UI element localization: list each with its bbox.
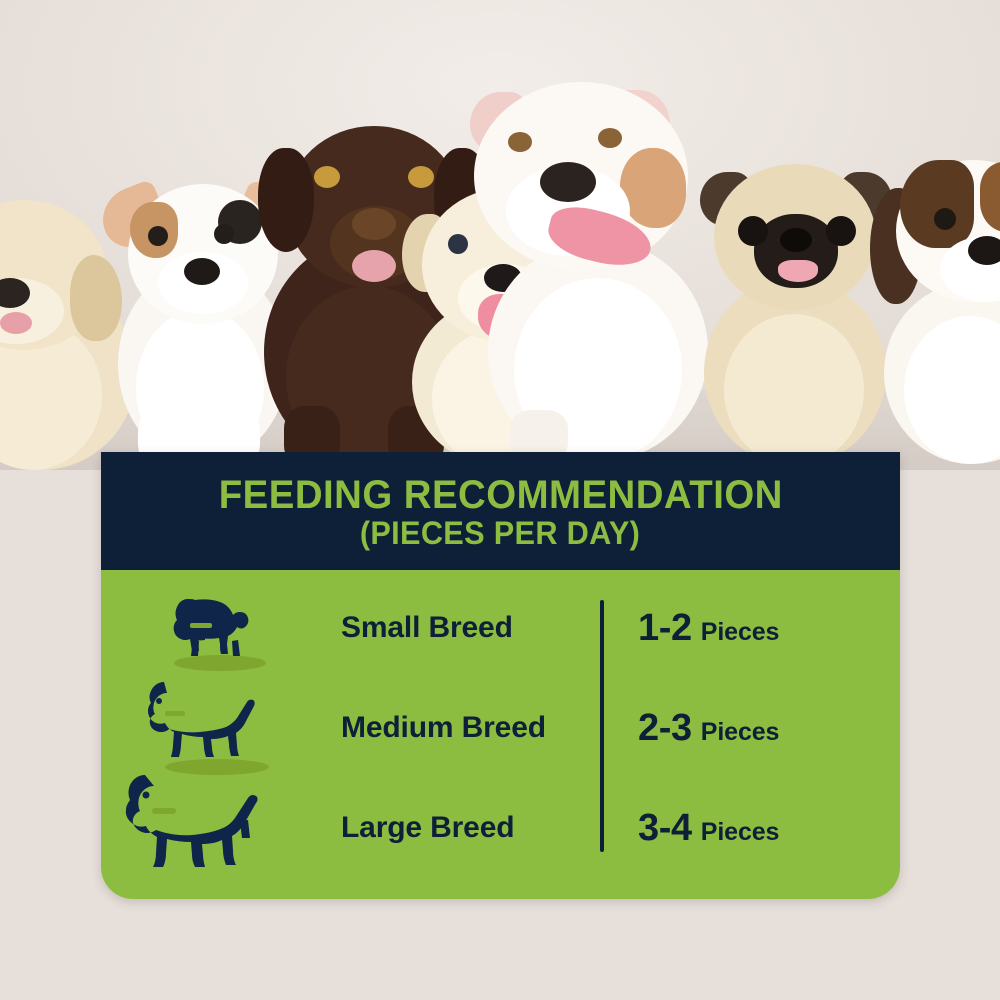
large-breed-unit: Pieces (701, 818, 780, 847)
small-breed-unit: Pieces (701, 618, 780, 647)
card-title: FEEDING RECOMMENDATION (218, 474, 782, 516)
medium-breed-amount-cell: 2-3 Pieces (600, 707, 900, 750)
large-breed-icon-cell (101, 778, 341, 878)
medium-breed-label: Medium Breed (341, 711, 600, 745)
small-breed-icon-cell (101, 578, 341, 678)
large-breed-amount-cell: 3-4 Pieces (600, 807, 900, 850)
large-breed-amount: 3-4 (638, 807, 692, 850)
medium-breed-icon-cell (101, 678, 341, 778)
table-row-small-breed: Small Breed 1-2 Pieces (101, 578, 900, 678)
table-row-medium-breed: Medium Breed 2-3 Pieces (101, 678, 900, 778)
small-breed-label: Small Breed (341, 611, 600, 645)
feeding-recommendation-card: FEEDING RECOMMENDATION (PIECES PER DAY) (101, 452, 900, 899)
medium-breed-unit: Pieces (701, 718, 780, 747)
dog-english-bulldog (470, 62, 720, 462)
labrador-silhouette-icon (128, 776, 314, 880)
beagle-silhouette-icon (137, 681, 305, 775)
card-body: Small Breed 1-2 Pieces (101, 570, 900, 899)
card-header: FEEDING RECOMMENDATION (PIECES PER DAY) (101, 452, 900, 570)
large-breed-label: Large Breed (341, 811, 600, 845)
puppies-photo (0, 0, 1000, 470)
small-breed-amount: 1-2 (638, 607, 692, 650)
table-row-large-breed: Large Breed 3-4 Pieces (101, 778, 900, 878)
medium-breed-amount: 2-3 (638, 707, 692, 750)
small-breed-amount-cell: 1-2 Pieces (600, 607, 900, 650)
pug-silhouette-icon (146, 585, 296, 671)
feeding-table: Small Breed 1-2 Pieces (101, 570, 900, 899)
dog-beagle (868, 124, 1000, 464)
card-subtitle: (PIECES PER DAY) (360, 516, 640, 552)
